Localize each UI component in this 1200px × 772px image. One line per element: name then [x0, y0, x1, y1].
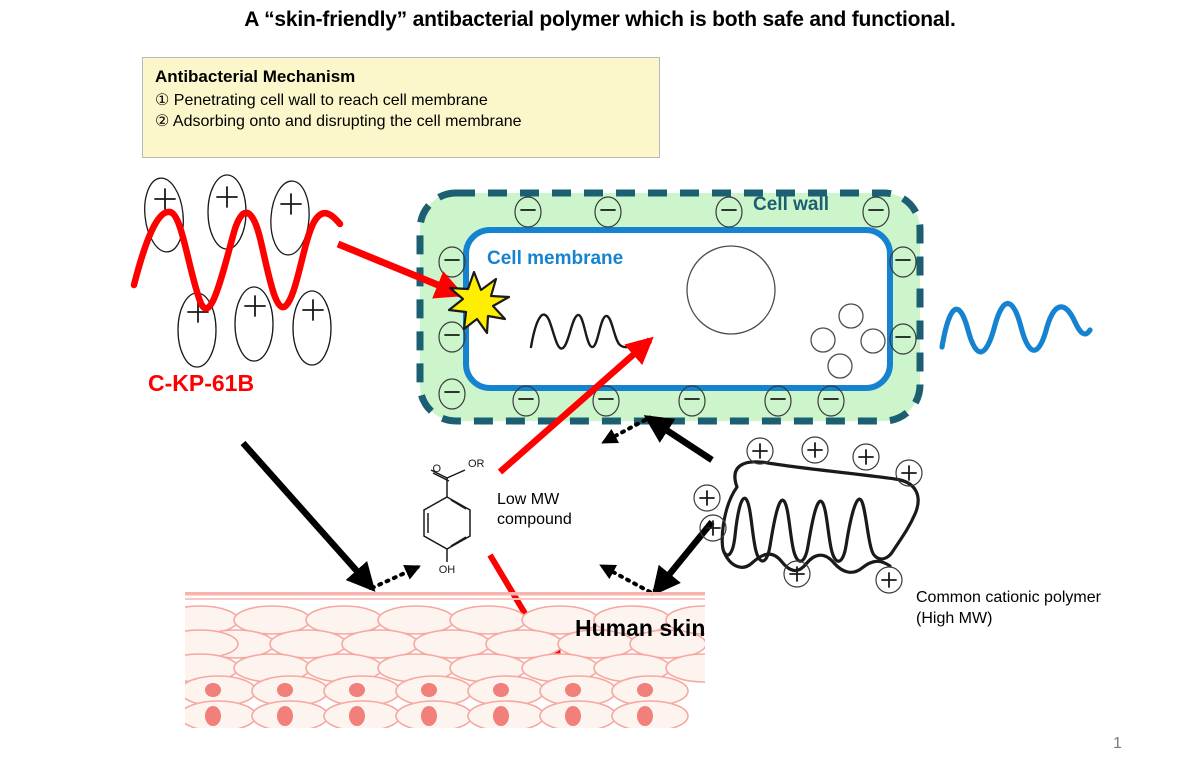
- label-cell-wall: Cell wall: [753, 194, 829, 216]
- slide-canvas: A “skin-friendly” antibacterial polymer …: [0, 0, 1200, 772]
- atom-label-hydroxyl: OH: [439, 564, 456, 576]
- arrow-common-polymer-to-skin: [655, 522, 712, 592]
- atom-label-ester-or: OR: [468, 458, 485, 470]
- released-polymer-wave: [942, 303, 1090, 351]
- atom-label-carbonyl-o: O: [432, 463, 441, 475]
- common-cationic-polymer-group: [694, 437, 922, 593]
- page-number: 1: [1113, 735, 1122, 753]
- label-common-cationic-polymer: Common cationic polymer (High MW): [916, 588, 1101, 630]
- label-cell-membrane: Cell membrane: [487, 248, 623, 270]
- arrow-ckp-to-skin: [243, 443, 372, 588]
- ckp-polymer-group: [134, 175, 340, 367]
- paraben-molecule: [424, 470, 470, 562]
- arrow-common-polymer-skin-rebound: [602, 566, 650, 592]
- arrow-ckp-skin-rebound: [372, 567, 418, 588]
- human-skin-tissue: [162, 592, 742, 731]
- common-polymer-coil: [722, 462, 918, 561]
- ckp-cationic-groups: [141, 175, 331, 367]
- paraben-atom-labels: O OR OH: [432, 458, 484, 576]
- label-ckp-polymer: C-KP-61B: [148, 370, 254, 397]
- label-low-mw-compound: Low MW compound: [497, 490, 572, 531]
- label-human-skin: Human skin: [575, 615, 705, 642]
